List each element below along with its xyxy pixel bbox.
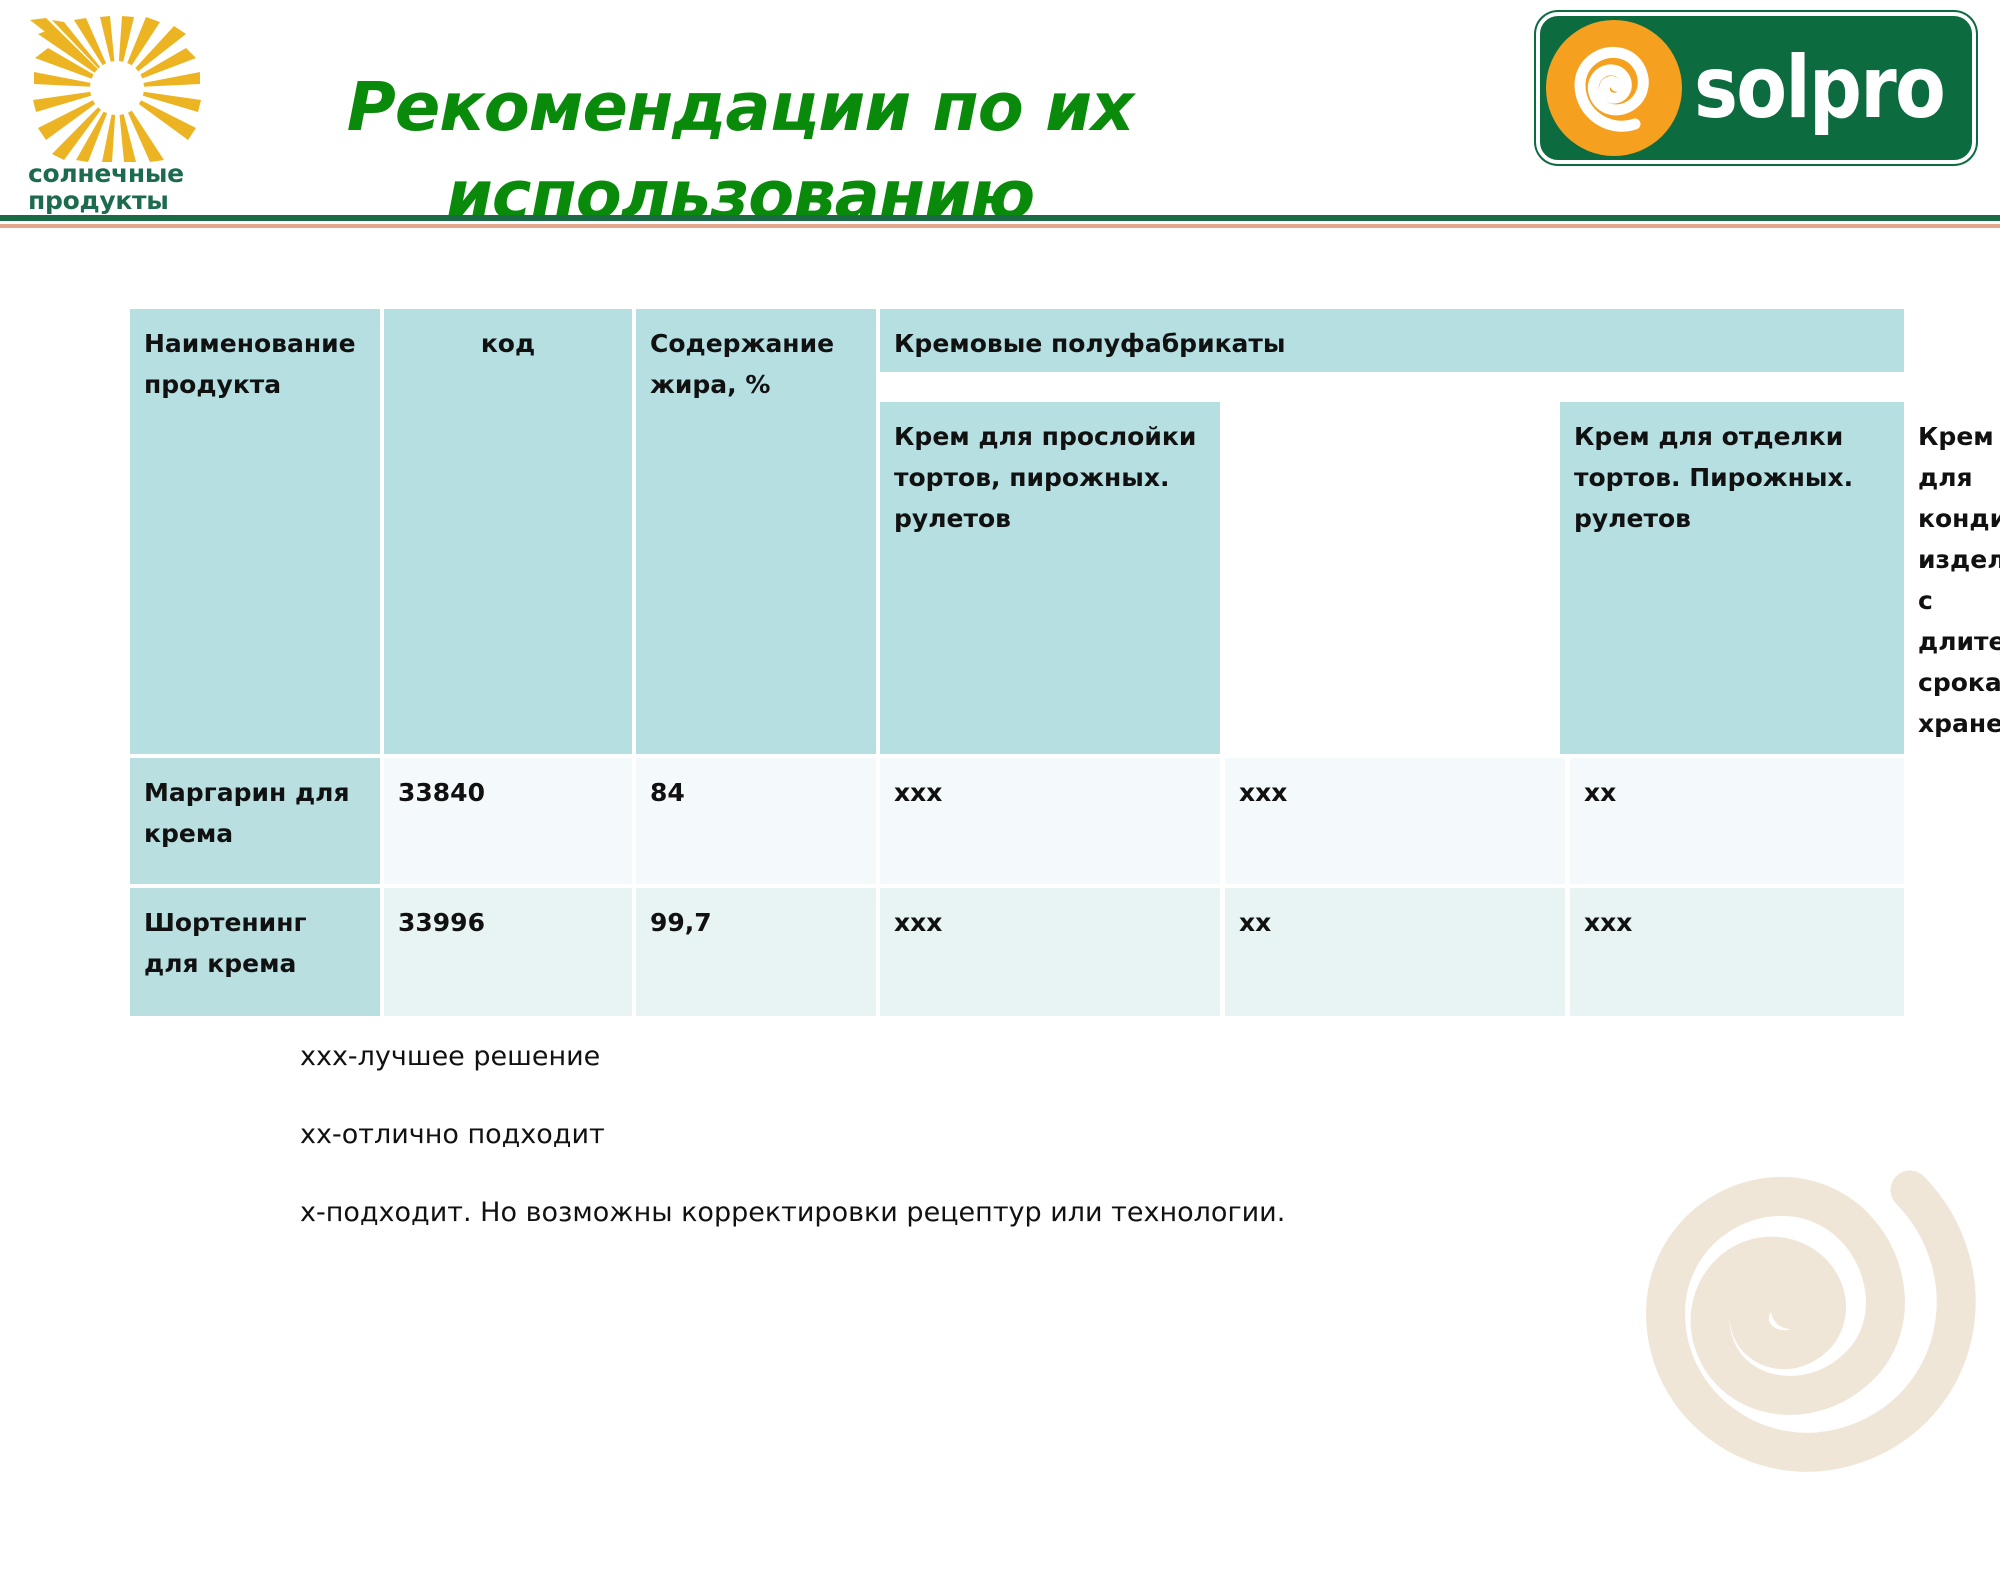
solpro-logo: solpro [1536,12,1976,164]
row-ratings-wrapper: xxx xx xxx [880,888,1904,1016]
row-fat: 84 [636,758,876,884]
brand-line-1: солнечные [28,160,210,187]
row-ratings-wrapper: xxx xxx xx [880,758,1904,884]
legend-block: xxx-лучшее решение xx-отлично подходит x… [300,1040,1600,1274]
table-row: Шортенинг для крема 33996 99,7 xxx xx xx… [130,888,1904,1016]
header-product-name: Наименование продукта [130,309,380,754]
row-rating-2: xx [1225,888,1565,1016]
header-sub-1: Крем для прослойки тортов, пирожных. рул… [880,402,1220,754]
header-code: код [384,309,632,754]
header-group-wrapper: Кремовые полуфабрикаты Крем для прослойк… [880,309,1904,754]
sunny-products-wordmark: солнечные продукты [28,160,210,214]
brand-line-2: продукты [28,187,210,214]
row-rating-3: xx [1570,758,1904,884]
header-group-label: Кремовые полуфабрикаты [880,309,1904,372]
row-rating-2: xxx [1225,758,1565,884]
header-rule-salmon [0,224,2000,228]
table-header-row: Наименование продукта код Содержание жир… [130,309,1904,754]
header-sub-2: Крем для отделки тортов. Пирожных. рулет… [1560,402,1904,754]
row-rating-1: xxx [880,888,1220,1016]
slide-header: солнечные продукты Рекомендации по их ис… [0,0,2000,218]
table-row: Маргарин для крема 33840 84 xxx xxx xx [130,758,1904,884]
row-product-name: Маргарин для крема [130,758,380,884]
header-rule-green [0,215,2000,221]
product-recommendation-table: Наименование продукта код Содержание жир… [126,305,1908,1020]
row-rating-1: xxx [880,758,1220,884]
legend-line-x: x-подходит. Но возможны корректировки ре… [300,1196,1600,1230]
row-fat: 99,7 [636,888,876,1016]
row-code: 33840 [384,758,632,884]
sunny-products-logo: солнечные продукты [24,14,210,214]
row-rating-3: xxx [1570,888,1904,1016]
legend-line-xxx: xxx-лучшее решение [300,1040,1600,1074]
solpro-wordmark: solpro [1694,45,1944,131]
row-code: 33996 [384,888,632,1016]
sunburst-icon [24,14,210,162]
legend-line-xx: xx-отлично подходит [300,1118,1600,1152]
header-fat-content: Содержание жира, % [636,309,876,754]
page-title: Рекомендации по их использованию [300,63,1180,239]
row-product-name: Шортенинг для крема [130,888,380,1016]
spiral-icon [1546,20,1682,156]
